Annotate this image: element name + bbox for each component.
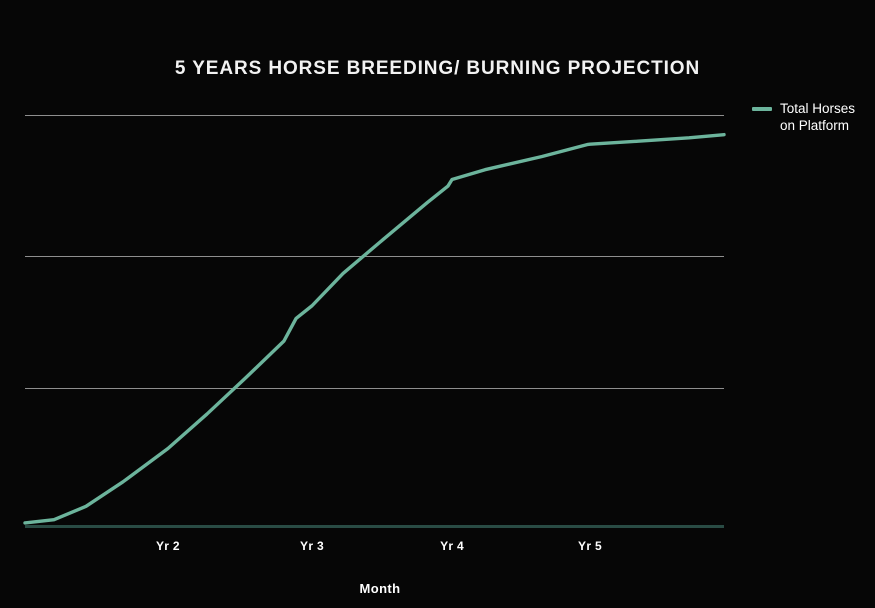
- legend-label-total-horses: Total Horses on Platform: [780, 100, 855, 134]
- chart-title: 5 YEARS HORSE BREEDING/ BURNING PROJECTI…: [0, 58, 875, 80]
- chart-legend: Total Horses on Platform: [752, 100, 855, 134]
- chart-canvas: 5 YEARS HORSE BREEDING/ BURNING PROJECTI…: [0, 0, 875, 608]
- series-total-horses-on-platform: [25, 100, 724, 530]
- x-tick-label: Yr 3: [282, 539, 342, 553]
- plot-area: [25, 100, 724, 530]
- x-tick-label: Yr 2: [138, 539, 198, 553]
- legend-line-icon: [752, 107, 772, 111]
- x-tick-label: Yr 4: [422, 539, 482, 553]
- x-axis-label: Month: [0, 581, 760, 596]
- x-tick-label: Yr 5: [560, 539, 620, 553]
